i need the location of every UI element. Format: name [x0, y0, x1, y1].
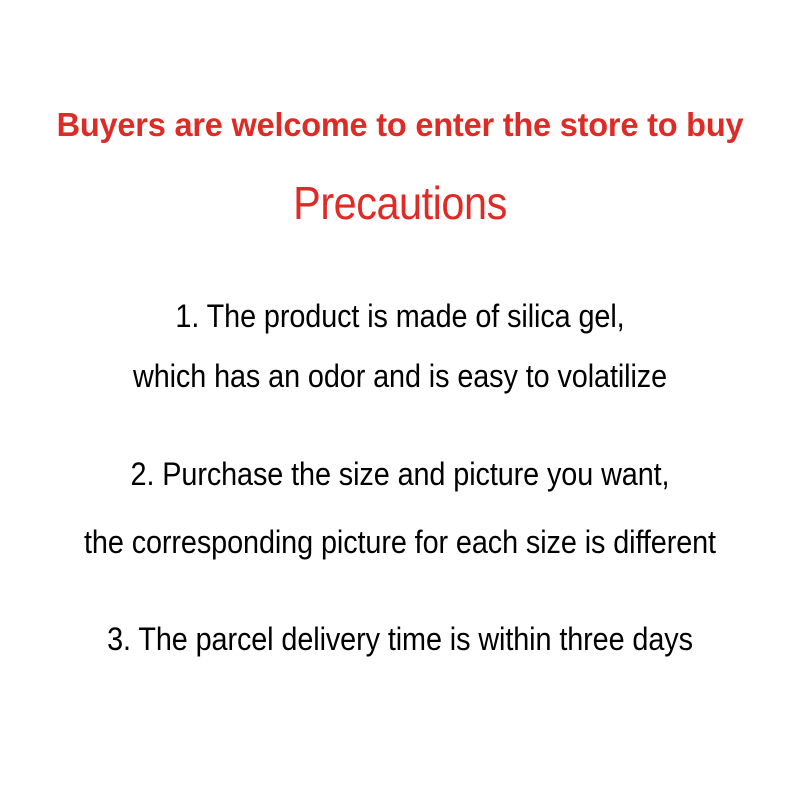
- precaution-3-line-1: 3. The parcel delivery time is within th…: [40, 623, 760, 655]
- precaution-2-line-2: the corresponding picture for each size …: [40, 526, 760, 558]
- precautions-notice-page: Buyers are welcome to enter the store to…: [0, 0, 800, 800]
- precaution-2-line-1: 2. Purchase the size and picture you wan…: [40, 458, 760, 490]
- store-welcome-banner: Buyers are welcome to enter the store to…: [6, 108, 794, 141]
- precaution-1-line-1: 1. The product is made of silica gel,: [40, 300, 760, 332]
- page-title: Precautions: [40, 180, 760, 226]
- precaution-1-line-2: which has an odor and is easy to volatil…: [40, 360, 760, 392]
